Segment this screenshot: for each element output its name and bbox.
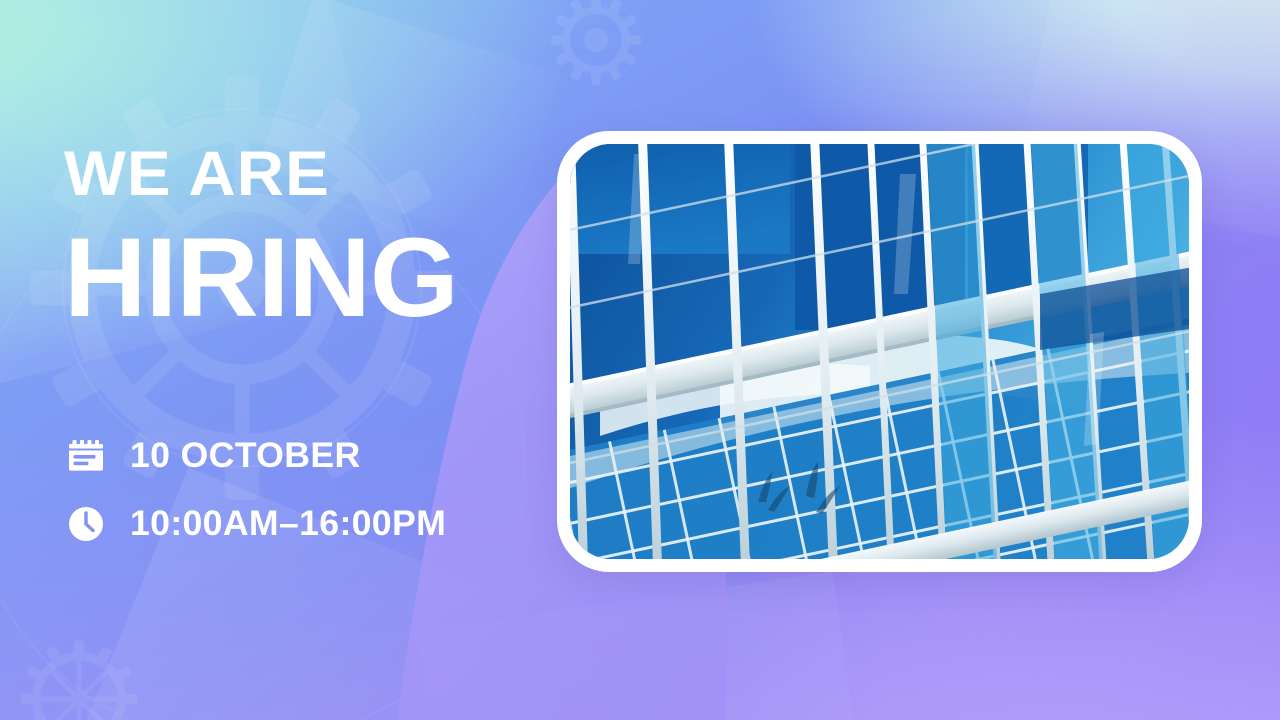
calendar-icon (66, 436, 106, 476)
detail-row-date: 10 OCTOBER (66, 430, 546, 482)
detail-row-time: 10:00AM–16:00PM (66, 498, 546, 550)
event-details: 10 OCTOBER 10:00AM–16:00PM (66, 430, 546, 566)
hiring-poster: WE ARE HIRING 10 OCTOBER (0, 0, 1280, 720)
photo-card (557, 131, 1202, 572)
building-photo (570, 144, 1189, 559)
headline-line-1: WE ARE (64, 143, 330, 206)
event-time-text: 10:00AM–16:00PM (130, 504, 446, 544)
copy-block: WE ARE HIRING 10 OCTOBER (0, 0, 560, 720)
event-date-text: 10 OCTOBER (130, 436, 361, 476)
clock-icon (66, 504, 106, 544)
page-title: HIRING (64, 222, 458, 334)
